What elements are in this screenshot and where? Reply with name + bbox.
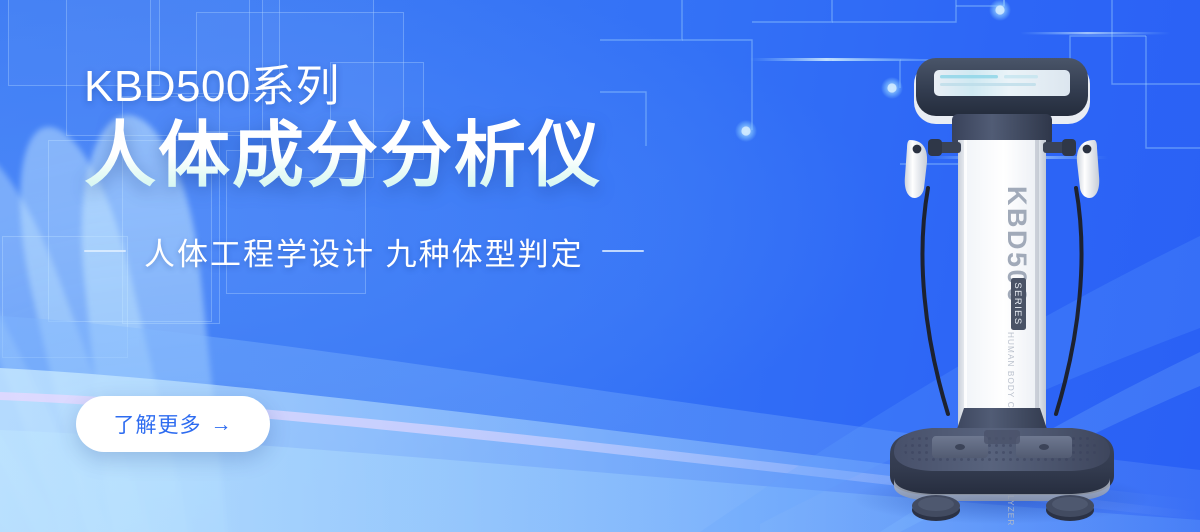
left-handle bbox=[905, 139, 961, 198]
tagline-row: 人体工程学设计 九种体型判定 bbox=[84, 229, 724, 274]
device-series-badge: SERIES bbox=[1011, 278, 1026, 330]
right-cable bbox=[1056, 188, 1082, 414]
foot-left bbox=[912, 495, 960, 521]
tagline-text: 人体工程学设计 九种体型判定 bbox=[144, 229, 584, 274]
eyebrow-text: KBD500系列 bbox=[84, 64, 724, 110]
device-illustration: KBD500 SERIES HUMAN BODY COMPOSITION ANA… bbox=[832, 36, 1162, 532]
tagline-dash-left-icon bbox=[84, 250, 126, 252]
learn-more-button[interactable]: 了解更多 → bbox=[76, 396, 270, 452]
arrow-right-icon: → bbox=[211, 414, 233, 435]
page-title: 人体成分分析仪 bbox=[84, 118, 724, 194]
learn-more-label: 了解更多 bbox=[114, 409, 202, 439]
circuit-node-icon bbox=[989, 0, 1011, 21]
hero-banner: KBD500系列 人体成分分析仪 人体工程学设计 九种体型判定 了解更多 → bbox=[0, 0, 1200, 532]
circuit-node-icon bbox=[735, 120, 757, 142]
foot-right bbox=[1046, 495, 1094, 521]
left-cable bbox=[922, 188, 948, 414]
tagline-dash-right-icon bbox=[602, 250, 644, 252]
hero-copy: KBD500系列 人体成分分析仪 人体工程学设计 九种体型判定 bbox=[84, 64, 724, 274]
svg-text:SERIES: SERIES bbox=[1012, 282, 1023, 325]
right-handle bbox=[1043, 139, 1099, 198]
base-platform bbox=[890, 428, 1114, 501]
